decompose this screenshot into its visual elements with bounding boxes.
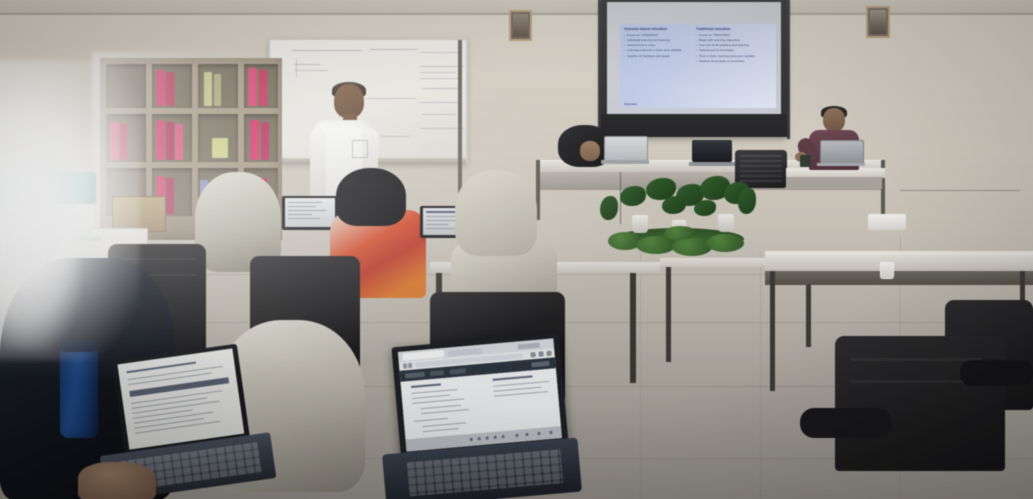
front-laptop-secondary <box>692 140 732 166</box>
student-grey-hijab <box>455 170 555 296</box>
slide-bullet: Teacher as facilitator and guide <box>624 55 694 59</box>
desk-cup <box>800 155 811 167</box>
slide-footer: Outcome <box>624 102 637 106</box>
chair-armrest <box>800 408 892 438</box>
side-desk-face <box>786 177 882 189</box>
classroom-photo: Outcome-based education Focus on "LEARNI… <box>0 0 1033 499</box>
screen-lower-bezel <box>601 114 787 137</box>
table-leg <box>770 271 775 391</box>
wall-portrait-frame-left <box>509 10 532 41</box>
right-participant-laptop <box>820 140 862 166</box>
window-light-core <box>0 150 80 350</box>
cable <box>900 190 1020 191</box>
slide-bullet: Learning outcome is fixed, time variable <box>624 49 694 53</box>
screen-rail-right <box>787 0 790 139</box>
foreground-laptop-center <box>388 340 568 499</box>
large-table-underside <box>765 271 1033 285</box>
office-chair <box>835 336 1005 471</box>
paper-cup <box>880 262 894 279</box>
slide-right-column: Traditional education Focus on "TEACHING… <box>696 28 766 65</box>
foreground-hand <box>78 462 156 499</box>
slide-left-heading: Outcome-based education <box>624 28 694 32</box>
slide-bullet: Time is fixed, learning outcomes variabl… <box>696 55 766 59</box>
table-leg <box>666 267 671 362</box>
plant-shrub <box>706 234 744 252</box>
plant-pot <box>718 214 734 232</box>
table-leg <box>630 273 636 383</box>
water-bottle <box>60 348 98 438</box>
plant-pot <box>632 215 648 233</box>
projected-slide: Outcome-based education Focus on "LEARNI… <box>620 24 776 108</box>
operator-laptop <box>604 136 646 164</box>
paper-on-floor <box>868 214 906 230</box>
slide-right-heading: Traditional education <box>696 28 766 32</box>
slide-left-column: Outcome-based education Focus on "LEARNI… <box>624 28 694 60</box>
chair-armrest <box>960 360 1033 386</box>
wall-portrait-frame-right <box>866 6 890 38</box>
slide-bullet: Teacher as provider of curriculum <box>696 60 766 64</box>
large-table-top <box>765 255 1033 271</box>
slide-bullet: Assessment is secondary <box>696 49 766 53</box>
plant-shrub <box>664 226 696 240</box>
